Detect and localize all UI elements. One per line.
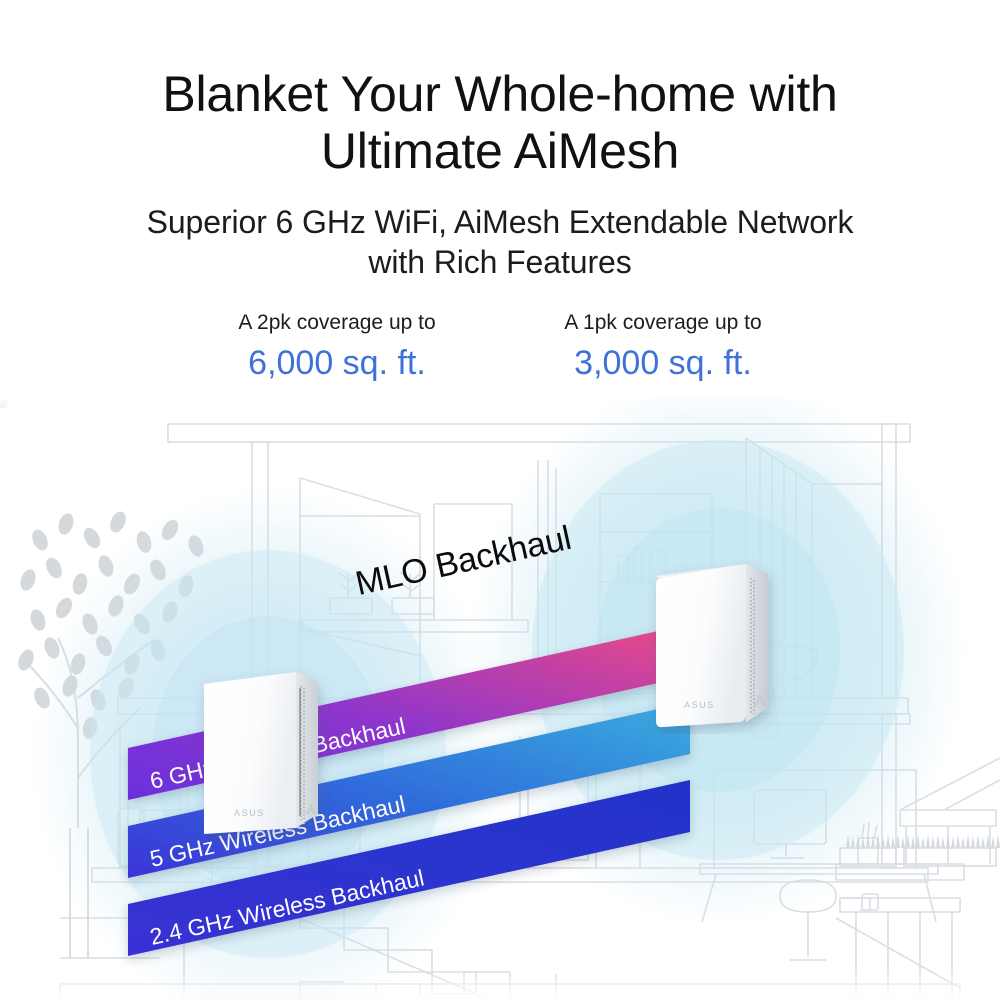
vent-perforations [299, 688, 301, 816]
stat-1pk-label: A 1pk coverage up to [538, 310, 788, 336]
stat-2pk: A 2pk coverage up to 6,000 sq. ft. [212, 310, 462, 385]
page-subheadline: Superior 6 GHz WiFi, AiMesh Extendable N… [0, 180, 1000, 282]
mlo-backhaul-bands: 6 GHz Wireless Backhaul 5 GHz Wireless B… [0, 398, 1000, 1000]
coverage-stats: A 2pk coverage up to 6,000 sq. ft. A 1pk… [0, 310, 1000, 385]
stat-1pk-value: 3,000 sq. ft. [538, 341, 788, 385]
asus-logo-left: ASUS [234, 808, 265, 818]
subhead-line-1: Superior 6 GHz WiFi, AiMesh Extendable N… [147, 204, 854, 240]
stat-1pk: A 1pk coverage up to 3,000 sq. ft. [538, 310, 788, 385]
page-headline: Blanket Your Whole-home with Ultimate Ai… [0, 0, 1000, 180]
asus-logo-right: ASUS [684, 700, 715, 710]
aimesh-router-left: ASUS [196, 664, 338, 840]
stat-2pk-value: 6,000 sq. ft. [212, 341, 462, 385]
headline-line-2: Ultimate AiMesh [0, 123, 1000, 180]
product-hero-banner: 6 GHz Wireless Backhaul 5 GHz Wireless B… [0, 0, 1000, 1000]
hero-text-block: Blanket Your Whole-home with Ultimate Ai… [0, 0, 1000, 282]
headline-line-1: Blanket Your Whole-home with [162, 66, 837, 122]
subhead-line-2: with Rich Features [0, 242, 1000, 282]
aimesh-router-right: ASUS [648, 558, 788, 734]
stat-2pk-label: A 2pk coverage up to [212, 310, 462, 336]
